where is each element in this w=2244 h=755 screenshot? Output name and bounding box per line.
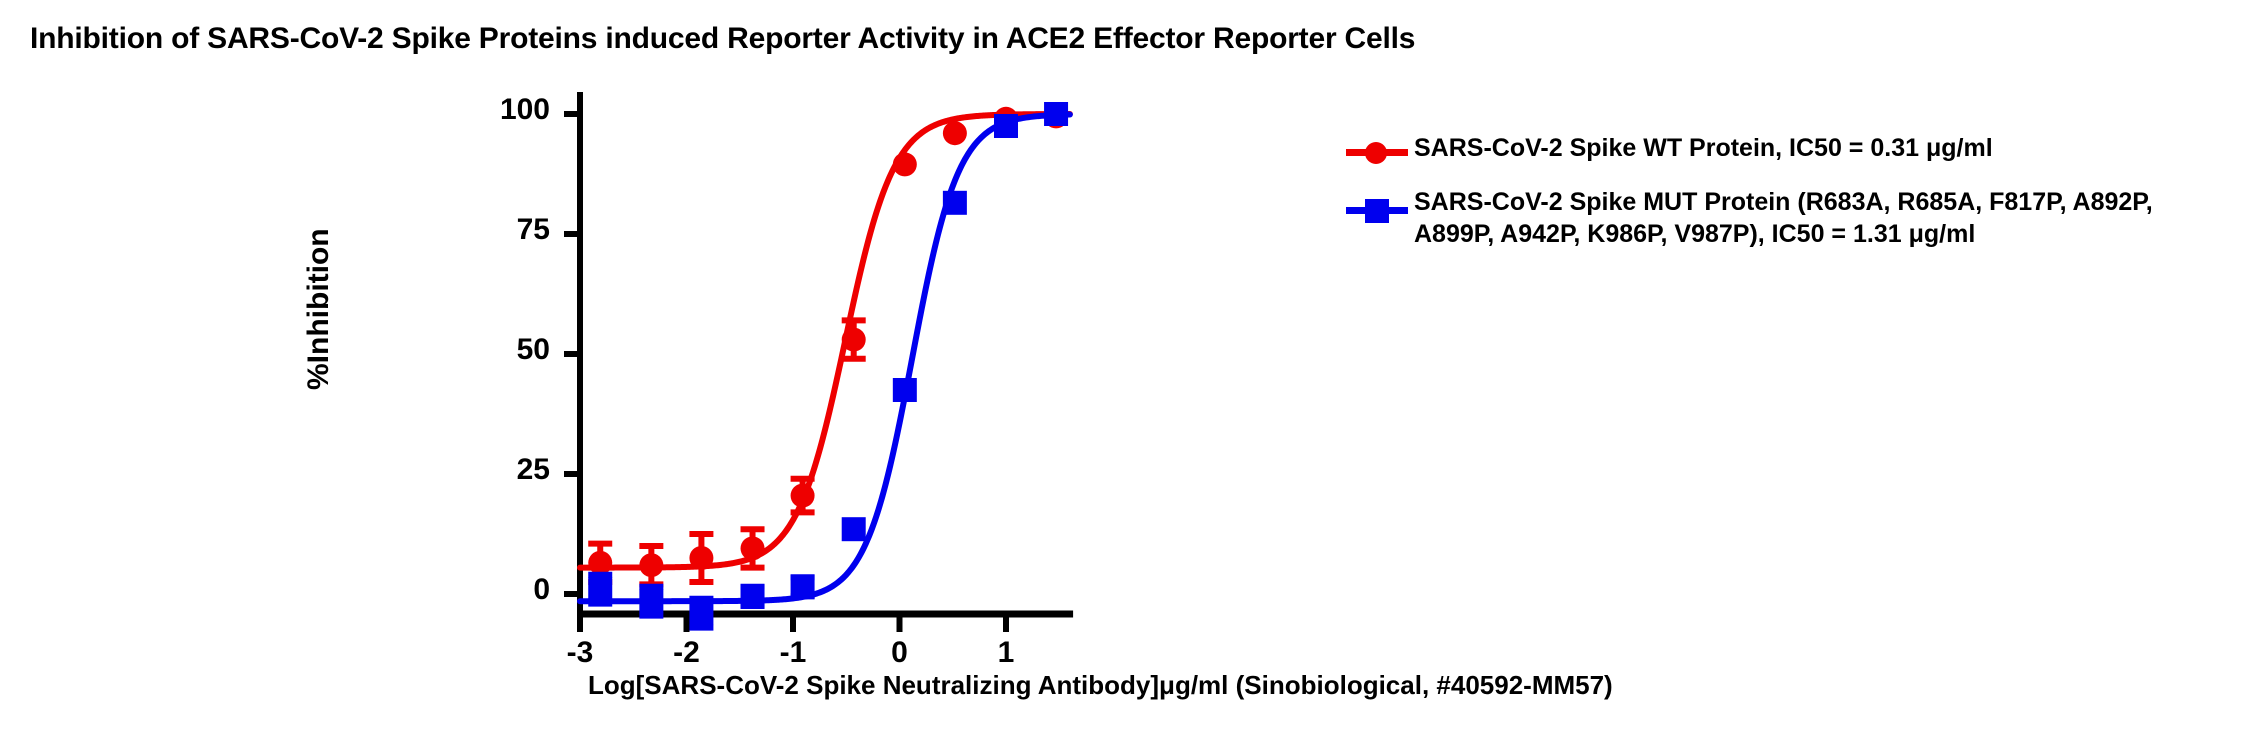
x-tick-label: 0 <box>870 636 930 670</box>
chart-legend: SARS-CoV-2 Spike WT Protein, IC50 = 0.31… <box>1340 132 2240 268</box>
data-point-marker[interactable] <box>689 546 713 570</box>
legend-marker-circle-icon <box>1340 134 1414 168</box>
data-point-marker[interactable] <box>893 378 917 402</box>
data-point-marker[interactable] <box>943 121 967 145</box>
data-point-marker[interactable] <box>741 584 765 608</box>
data-point-marker[interactable] <box>639 589 663 613</box>
data-point-marker[interactable] <box>842 517 866 541</box>
legend-item-label: SARS-CoV-2 Spike WT Protein, IC50 = 0.31… <box>1414 132 1993 164</box>
y-axis-label: %Inhibition <box>302 228 336 390</box>
data-point-marker[interactable] <box>791 575 815 599</box>
legend-item[interactable]: SARS-CoV-2 Spike WT Protein, IC50 = 0.31… <box>1340 132 2240 168</box>
series-curve <box>580 115 1070 602</box>
data-point-marker[interactable] <box>588 551 612 575</box>
y-tick-label: 100 <box>460 93 550 127</box>
figure-container: Inhibition of SARS-CoV-2 Spike Proteins … <box>0 0 2244 750</box>
legend-item-label: SARS-CoV-2 Spike MUT Protein (R683A, R68… <box>1414 186 2153 250</box>
x-tick-label: -2 <box>657 636 717 670</box>
data-point-marker[interactable] <box>1044 102 1068 126</box>
data-point-marker[interactable] <box>842 328 866 352</box>
y-tick-label: 0 <box>460 573 550 607</box>
series-curve <box>580 114 1070 568</box>
x-axis-label: Log[SARS-CoV-2 Spike Neutralizing Antibo… <box>588 670 1613 701</box>
legend-marker-square-icon <box>1340 188 1414 222</box>
y-tick-label: 25 <box>460 453 550 487</box>
x-tick-label: -3 <box>550 636 610 670</box>
data-point-marker[interactable] <box>791 484 815 508</box>
data-point-marker[interactable] <box>588 577 612 601</box>
data-point-marker[interactable] <box>689 601 713 625</box>
data-point-marker[interactable] <box>741 536 765 560</box>
y-tick-label: 75 <box>460 213 550 247</box>
x-tick-label: -1 <box>763 636 823 670</box>
legend-item[interactable]: SARS-CoV-2 Spike MUT Protein (R683A, R68… <box>1340 186 2240 250</box>
data-point-marker[interactable] <box>943 191 967 215</box>
x-tick-label: 1 <box>976 636 1036 670</box>
y-tick-label: 50 <box>460 333 550 367</box>
data-point-marker[interactable] <box>994 114 1018 138</box>
data-point-marker[interactable] <box>893 152 917 176</box>
data-point-marker[interactable] <box>639 553 663 577</box>
